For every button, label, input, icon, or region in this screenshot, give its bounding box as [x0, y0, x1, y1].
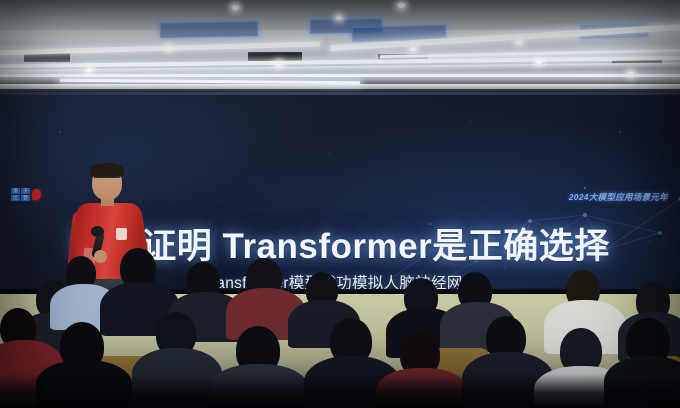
ceiling-downlight — [536, 60, 542, 64]
organizer-logo: 量 子 位 智 — [11, 188, 41, 201]
ceiling-downlight — [166, 46, 172, 50]
ceiling-downlight — [276, 62, 282, 66]
ceiling — [0, 0, 680, 93]
speaker-glasses — [94, 177, 120, 184]
ceiling-downlight — [232, 5, 239, 10]
ceiling-downlight — [336, 16, 342, 20]
microphone-head-icon — [91, 226, 104, 237]
ceiling-downlight — [516, 40, 522, 44]
ceiling-downlight — [410, 47, 416, 51]
ceiling-light-strip — [0, 74, 680, 77]
speaker-hair — [90, 163, 124, 177]
venue-banner-text: 2024大模型应用场景元年 — [569, 191, 668, 203]
logo-cell: 智 — [21, 195, 30, 201]
logo-grid: 量 子 位 智 — [11, 188, 30, 201]
audience — [0, 252, 680, 408]
logo-flame-icon — [32, 189, 41, 200]
ceiling-downlight — [398, 3, 405, 8]
logo-cell: 位 — [11, 195, 20, 201]
ceiling-downlight — [628, 72, 634, 76]
foreground-shadow — [0, 374, 680, 408]
ceiling-downlight — [86, 68, 92, 72]
speaker-chest-badge — [116, 228, 127, 240]
ceiling-light-panel — [160, 21, 258, 38]
ceiling-rail — [0, 84, 680, 89]
presentation-photo: 量 子 位 智 2024大模型应用场景元年 事实证明 Transformer是正… — [0, 0, 680, 408]
logo-cell: 子 — [21, 188, 30, 194]
logo-cell: 量 — [11, 188, 20, 194]
